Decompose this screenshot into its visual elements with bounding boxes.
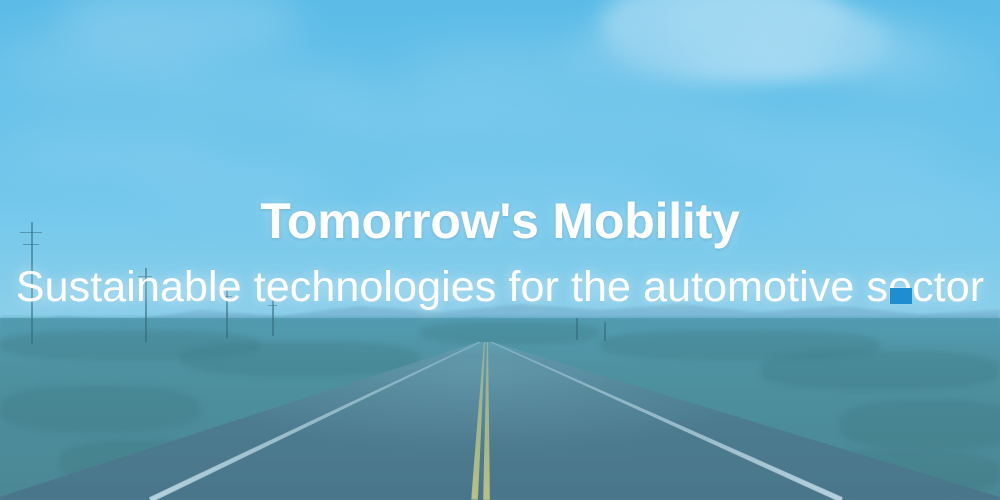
- cloud: [700, 128, 960, 170]
- text-selection-highlight[interactable]: [890, 288, 912, 304]
- utility-pole: [31, 222, 33, 344]
- cloud: [140, 160, 340, 200]
- pole-crossarm: [221, 296, 232, 297]
- utility-pole: [145, 268, 147, 342]
- cloud: [780, 182, 1000, 220]
- road-haze: [0, 340, 1000, 500]
- pole-crossarm: [20, 232, 42, 233]
- hero-slide: Tomorrow's Mobility Sustainable technolo…: [0, 0, 1000, 500]
- cloud: [380, 170, 680, 210]
- pole-crossarm: [268, 305, 277, 306]
- highway-road: [0, 340, 1000, 500]
- utility-pole: [604, 322, 606, 341]
- cloud: [400, 46, 590, 102]
- pole-crossarm: [138, 276, 152, 277]
- cloud: [860, 44, 990, 90]
- utility-pole: [576, 318, 578, 340]
- pole-crossarm: [23, 244, 39, 245]
